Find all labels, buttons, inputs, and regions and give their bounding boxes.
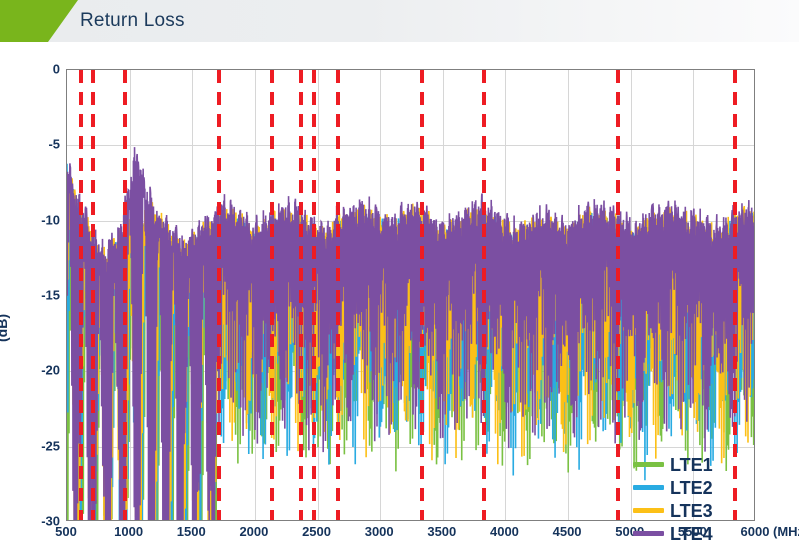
y-tick-label: -20 — [41, 363, 60, 378]
x-tick-label: 6000 — [741, 524, 770, 539]
y-tick-label: -15 — [41, 288, 60, 303]
legend-label: LTE2 — [670, 479, 713, 497]
x-tick-label: 500 — [55, 524, 77, 539]
legend-label: LTE3 — [670, 502, 713, 520]
legend-swatch-icon — [633, 462, 664, 467]
page-title: Return Loss — [80, 0, 185, 42]
legend-item-lte4[interactable]: LTE4 — [633, 522, 725, 545]
return-loss-chart-page: Return Loss 0-5-10-15-20-25-30 (dB) 5001… — [0, 0, 799, 554]
x-tick-label: 1500 — [177, 524, 206, 539]
y-tick-label: -5 — [48, 137, 60, 152]
legend-swatch-icon — [633, 508, 664, 513]
x-tick-label: 1000 — [114, 524, 143, 539]
x-tick-label: 3500 — [427, 524, 456, 539]
y-tick-label: -25 — [41, 438, 60, 453]
legend-swatch-icon — [633, 485, 664, 490]
panel-header: Return Loss — [0, 0, 799, 42]
chart-container: 0-5-10-15-20-25-30 (dB) 5001000150020002… — [0, 42, 799, 554]
x-tick-label: 3000 — [365, 524, 394, 539]
legend-item-lte1[interactable]: LTE1 — [633, 453, 725, 476]
y-tick-label: 0 — [53, 62, 60, 77]
x-tick-label: 2500 — [302, 524, 331, 539]
header-accent-wedge — [0, 0, 78, 42]
legend-item-lte2[interactable]: LTE2 — [633, 476, 725, 499]
legend-label: LTE1 — [670, 456, 713, 474]
y-tick-label: -10 — [41, 212, 60, 227]
legend-item-lte3[interactable]: LTE3 — [633, 499, 725, 522]
legend-swatch-icon — [633, 531, 664, 536]
x-axis-unit-label: (MHz) — [773, 524, 799, 539]
legend: LTE1LTE2LTE3LTE4 — [633, 453, 725, 545]
x-tick-label: 4500 — [553, 524, 582, 539]
legend-label: LTE4 — [670, 525, 713, 543]
x-tick-label: 2000 — [239, 524, 268, 539]
y-axis-ticks: 0-5-10-15-20-25-30 — [0, 69, 60, 521]
x-tick-label: 4000 — [490, 524, 519, 539]
y-axis-label: (dB) — [0, 314, 10, 342]
